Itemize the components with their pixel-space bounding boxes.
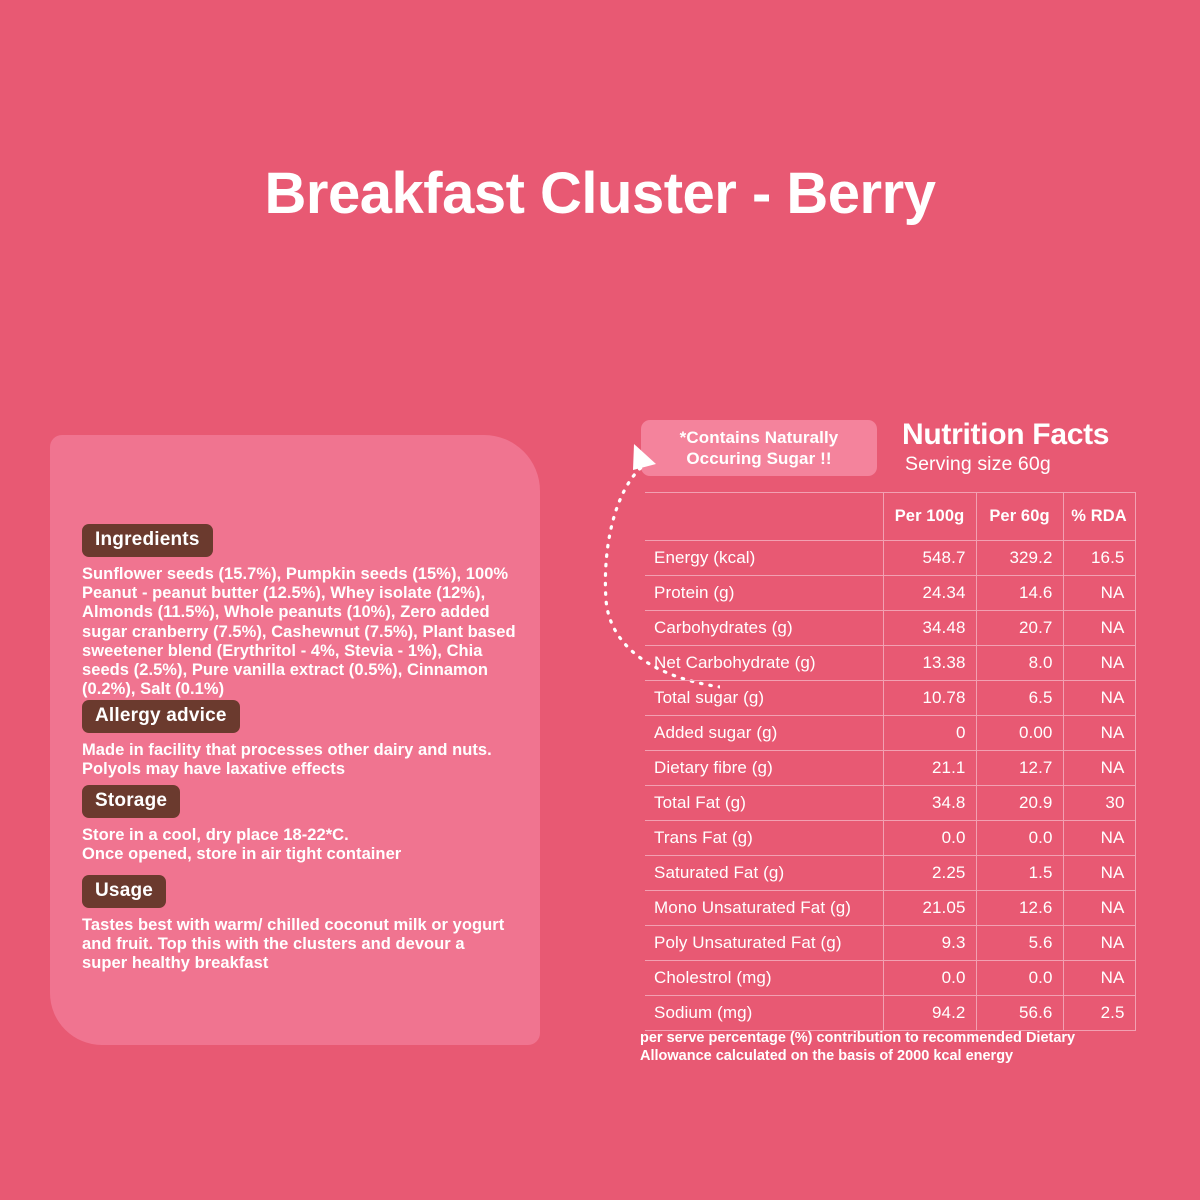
nutrient-label: Dietary fibre (g): [645, 751, 883, 786]
value-rda: NA: [1063, 856, 1135, 891]
column-header-blank: [645, 493, 883, 541]
section-usage: Usage Tastes best with warm/ chilled coc…: [82, 875, 512, 974]
value-per-60g: 6.5: [976, 681, 1063, 716]
allergy-advice-tag: Allergy advice: [82, 700, 240, 733]
table-row: Dietary fibre (g)21.112.7NA: [645, 751, 1135, 786]
nutrient-label: Protein (g): [645, 576, 883, 611]
nutrient-label: Mono Unsaturated Fat (g): [645, 891, 883, 926]
value-per-100g: 21.05: [883, 891, 976, 926]
usage-text: Tastes best with warm/ chilled coconut m…: [82, 916, 512, 974]
nutrient-label: Cholestrol (mg): [645, 961, 883, 996]
value-per-60g: 0.00: [976, 716, 1063, 751]
nutrient-label: Sodium (mg): [645, 996, 883, 1031]
allergy-advice-text: Made in facility that processes other da…: [82, 741, 512, 779]
section-ingredients: Ingredients Sunflower seeds (15.7%), Pum…: [82, 524, 522, 699]
value-per-60g: 14.6: [976, 576, 1063, 611]
value-per-100g: 0: [883, 716, 976, 751]
table-row: Trans Fat (g)0.00.0NA: [645, 821, 1135, 856]
serving-size-label: Serving size 60g: [905, 453, 1051, 476]
table-row: Poly Unsaturated Fat (g)9.35.6NA: [645, 926, 1135, 961]
nutrition-facts-heading: Nutrition Facts: [902, 418, 1109, 452]
value-per-60g: 12.6: [976, 891, 1063, 926]
value-per-60g: 8.0: [976, 646, 1063, 681]
table-row: Carbohydrates (g)34.4820.7NA: [645, 611, 1135, 646]
value-rda: NA: [1063, 891, 1135, 926]
section-storage: Storage Store in a cool, dry place 18-22…: [82, 785, 512, 864]
value-per-100g: 9.3: [883, 926, 976, 961]
table-row: Cholestrol (mg)0.00.0NA: [645, 961, 1135, 996]
value-per-60g: 5.6: [976, 926, 1063, 961]
section-allergy-advice: Allergy advice Made in facility that pro…: [82, 700, 512, 779]
value-per-100g: 2.25: [883, 856, 976, 891]
value-per-60g: 0.0: [976, 961, 1063, 996]
nutrition-facts-table: Per 100g Per 60g % RDA Energy (kcal)548.…: [645, 492, 1136, 1031]
value-rda: 30: [1063, 786, 1135, 821]
table-row: Sodium (mg)94.256.62.5: [645, 996, 1135, 1031]
value-per-100g: 24.34: [883, 576, 976, 611]
nutrient-label: Total sugar (g): [645, 681, 883, 716]
value-per-100g: 548.7: [883, 541, 976, 576]
storage-text: Store in a cool, dry place 18-22*C. Once…: [82, 826, 512, 864]
value-per-60g: 56.6: [976, 996, 1063, 1031]
value-per-60g: 20.9: [976, 786, 1063, 821]
value-rda: NA: [1063, 611, 1135, 646]
value-rda: NA: [1063, 646, 1135, 681]
value-per-100g: 34.48: [883, 611, 976, 646]
value-per-60g: 1.5: [976, 856, 1063, 891]
table-row: Added sugar (g)00.00NA: [645, 716, 1135, 751]
nutrient-label: Trans Fat (g): [645, 821, 883, 856]
nutrient-label: Carbohydrates (g): [645, 611, 883, 646]
value-rda: NA: [1063, 961, 1135, 996]
column-header-per-60g: Per 60g: [976, 493, 1063, 541]
value-per-60g: 12.7: [976, 751, 1063, 786]
value-per-100g: 0.0: [883, 961, 976, 996]
nutrient-label: Net Carbohydrate (g): [645, 646, 883, 681]
value-per-100g: 13.38: [883, 646, 976, 681]
table-row: Total sugar (g)10.786.5NA: [645, 681, 1135, 716]
value-per-100g: 0.0: [883, 821, 976, 856]
table-row: Mono Unsaturated Fat (g)21.0512.6NA: [645, 891, 1135, 926]
value-per-100g: 94.2: [883, 996, 976, 1031]
natural-sugar-callout: *Contains Naturally Occuring Sugar !!: [641, 420, 877, 476]
nutrient-label: Saturated Fat (g): [645, 856, 883, 891]
table-row: Energy (kcal)548.7329.216.5: [645, 541, 1135, 576]
value-rda: NA: [1063, 576, 1135, 611]
value-per-60g: 20.7: [976, 611, 1063, 646]
value-rda: NA: [1063, 821, 1135, 856]
value-per-100g: 21.1: [883, 751, 976, 786]
table-header-row: Per 100g Per 60g % RDA: [645, 493, 1135, 541]
value-per-60g: 0.0: [976, 821, 1063, 856]
table-footnote: per serve percentage (%) contribution to…: [640, 1030, 1140, 1065]
table-row: Protein (g)24.3414.6NA: [645, 576, 1135, 611]
ingredients-text: Sunflower seeds (15.7%), Pumpkin seeds (…: [82, 565, 522, 699]
value-rda: NA: [1063, 681, 1135, 716]
value-rda: NA: [1063, 716, 1135, 751]
value-per-100g: 10.78: [883, 681, 976, 716]
nutrient-label: Added sugar (g): [645, 716, 883, 751]
value-per-100g: 34.8: [883, 786, 976, 821]
nutrient-label: Total Fat (g): [645, 786, 883, 821]
storage-tag: Storage: [82, 785, 180, 818]
value-rda: 2.5: [1063, 996, 1135, 1031]
table-row: Total Fat (g)34.820.930: [645, 786, 1135, 821]
table-row: Saturated Fat (g)2.251.5NA: [645, 856, 1135, 891]
natural-sugar-callout-text: *Contains Naturally Occuring Sugar !!: [641, 427, 877, 469]
nutrient-label: Energy (kcal): [645, 541, 883, 576]
value-rda: NA: [1063, 926, 1135, 961]
value-rda: NA: [1063, 751, 1135, 786]
table-row: Net Carbohydrate (g)13.388.0NA: [645, 646, 1135, 681]
value-rda: 16.5: [1063, 541, 1135, 576]
column-header-rda: % RDA: [1063, 493, 1135, 541]
page-title: Breakfast Cluster - Berry: [0, 160, 1200, 227]
column-header-per-100g: Per 100g: [883, 493, 976, 541]
value-per-60g: 329.2: [976, 541, 1063, 576]
nutrient-label: Poly Unsaturated Fat (g): [645, 926, 883, 961]
usage-tag: Usage: [82, 875, 166, 908]
ingredients-tag: Ingredients: [82, 524, 213, 557]
